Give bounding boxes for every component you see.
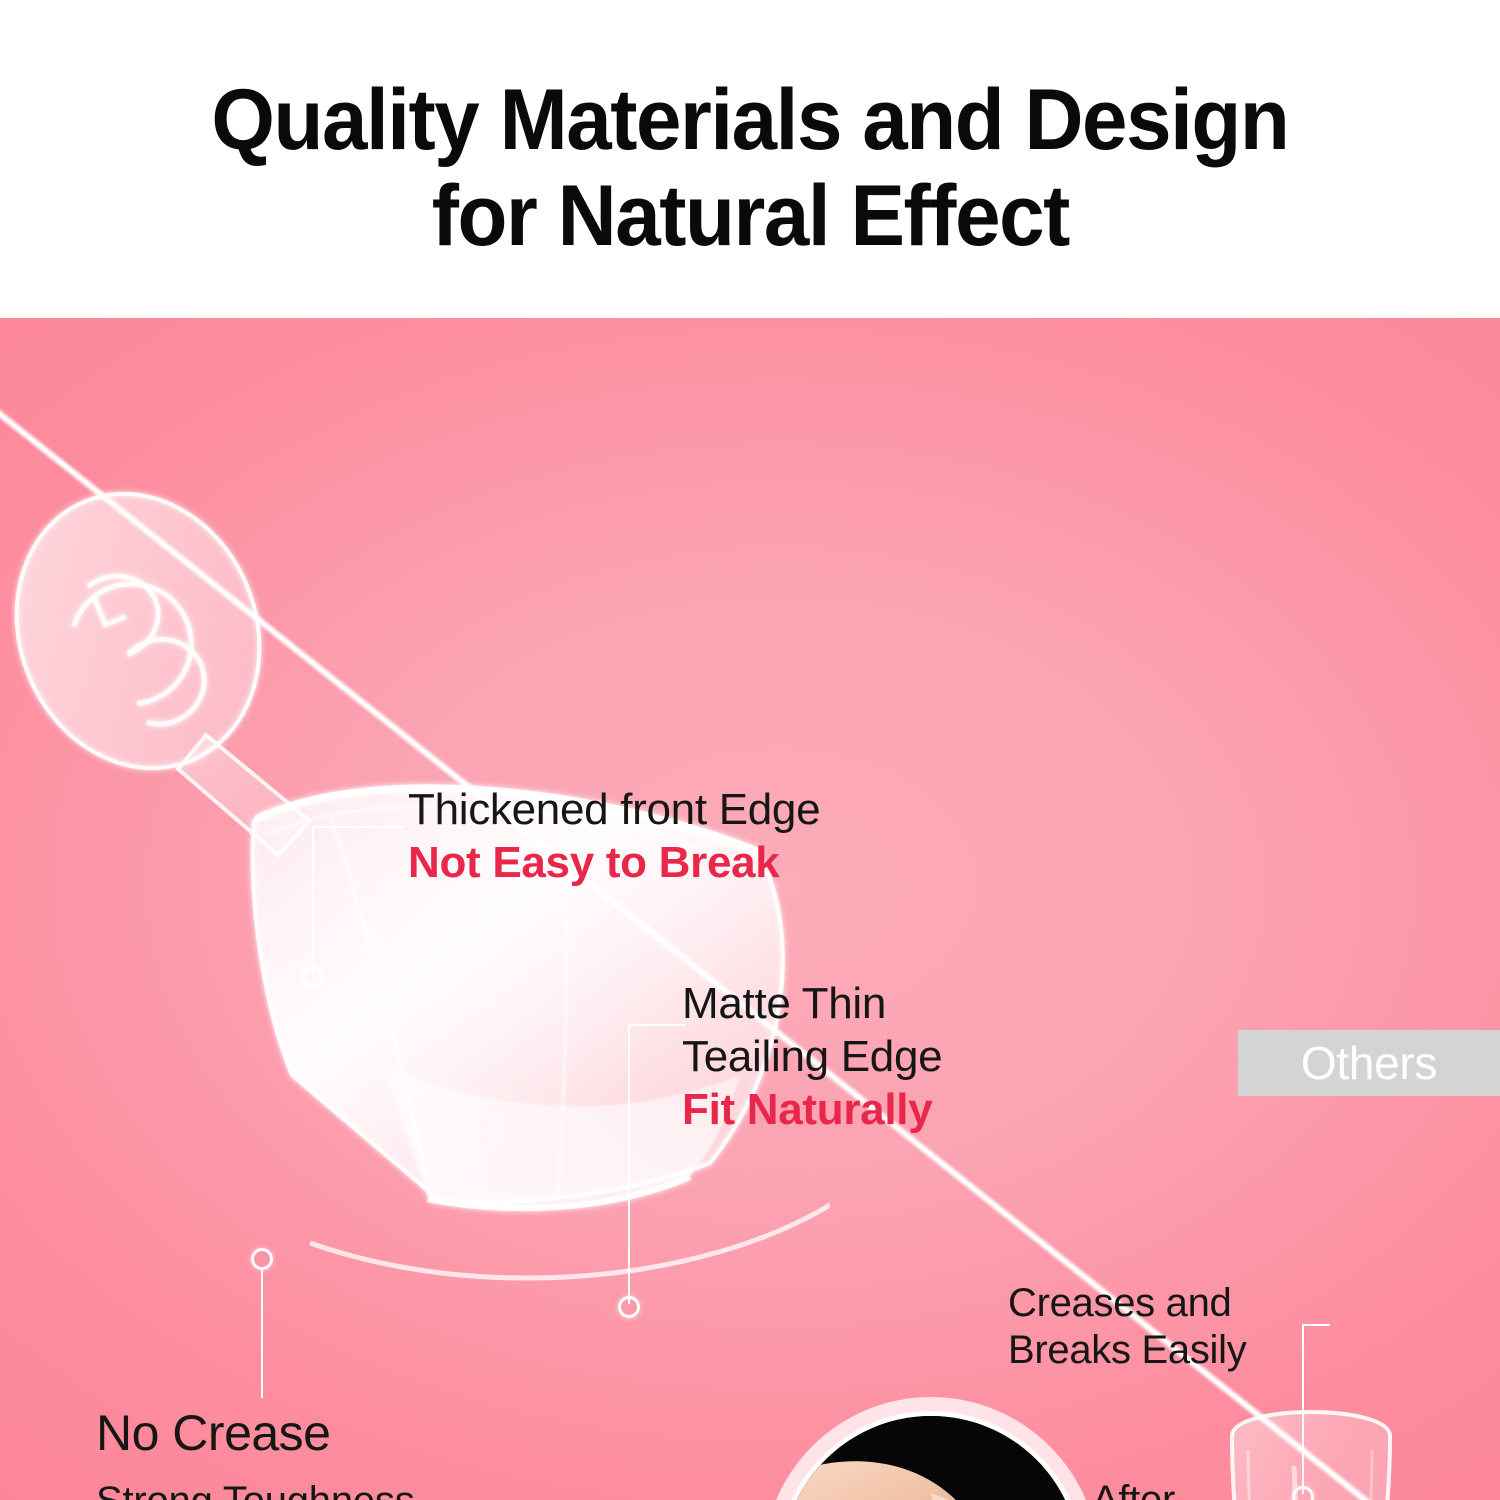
badge-others-label: Others <box>1301 1036 1437 1090</box>
applicator-tab <box>10 463 300 805</box>
annotation-matte-line1a: Matte Thin <box>682 978 942 1031</box>
annotation-no-crease-sub: Strong Toughness <box>96 1475 415 1500</box>
annotation-thickened-front-edge: Thickened front Edge Not Easy to Break <box>408 784 820 890</box>
annotation-no-crease-heading: No Crease <box>96 1404 415 1463</box>
modelones-nail-tip-illustration <box>10 463 830 1363</box>
annotation-creases-line1: Creases and <box>1008 1280 1246 1327</box>
photo-fingers-bending-nail-tip <box>782 1416 1080 1500</box>
annotation-matte-line2: Fit Naturally <box>682 1084 942 1137</box>
diagonal-divider <box>0 360 1500 1500</box>
leader-matte-horizontal <box>628 1024 686 1026</box>
tab-neck <box>178 735 310 855</box>
annotation-thickened-line1: Thickened front Edge <box>408 784 820 837</box>
annotation-matte-line1b: Teailing Edge <box>682 1031 942 1084</box>
connector-dot-nocrease <box>251 1248 273 1270</box>
annotation-after-bend-line1: After <box>1092 1476 1184 1500</box>
leader-matte-vertical <box>628 1024 630 1304</box>
header-banner: Quality Materials and Design for Natural… <box>0 0 1500 318</box>
connector-dot-thickened <box>302 966 324 988</box>
others-nail-body <box>1232 1412 1390 1500</box>
connector-dot-matte <box>618 1296 640 1318</box>
leader-creases-horizontal <box>1302 1324 1330 1326</box>
annotation-thickened-line2: Not Easy to Break <box>408 837 820 890</box>
under-sweep-highlight <box>310 1205 830 1278</box>
annotation-creases-line2: Breaks Easily <box>1008 1327 1246 1374</box>
leader-thickened-vertical <box>312 826 314 974</box>
infographic-page: Quality Materials and Design for Natural… <box>0 0 1500 1500</box>
annotation-no-crease: No Crease Strong Toughness <box>96 1404 415 1500</box>
annotation-matte-trailing-edge: Matte Thin Teailing Edge Fit Naturally <box>682 978 942 1136</box>
leader-thickened-horizontal <box>312 826 404 828</box>
leader-nocrease-vertical <box>261 1270 263 1398</box>
badge-others: Others <box>1238 1030 1500 1096</box>
page-title-line-2: for Natural Effect <box>431 168 1068 264</box>
annotation-creases-and-breaks: Creases and Breaks Easily <box>1008 1280 1246 1374</box>
comparison-panel: Thickened front Edge Not Easy to Break M… <box>0 318 1500 1500</box>
others-nail-tip-illustration <box>1196 1370 1426 1500</box>
leader-creases-vertical <box>1302 1324 1304 1494</box>
page-title-line-1: Quality Materials and Design <box>212 72 1289 168</box>
annotation-after-bend: After Bend <box>1092 1476 1184 1500</box>
